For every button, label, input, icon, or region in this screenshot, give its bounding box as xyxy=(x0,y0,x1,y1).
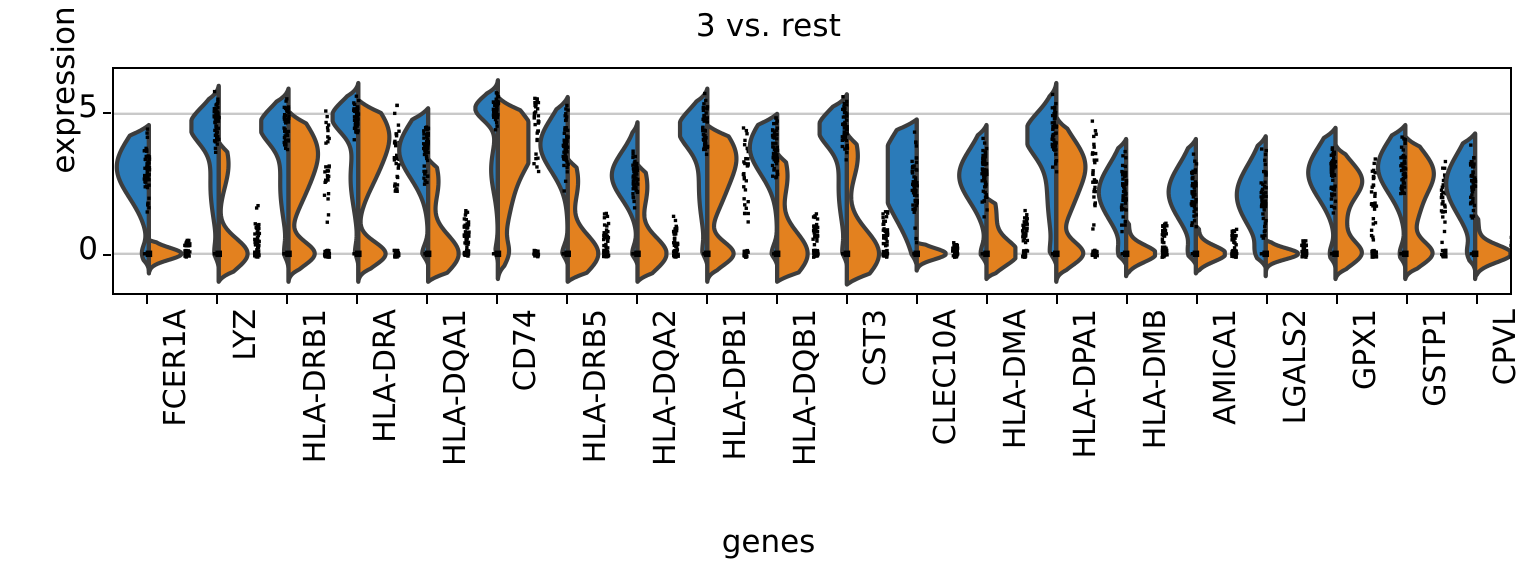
violin-half-rest xyxy=(1405,136,1434,279)
scatter-points-rest xyxy=(951,241,959,259)
scatter-point xyxy=(324,165,327,168)
scatter-point xyxy=(914,168,917,171)
scatter-point xyxy=(1091,151,1094,154)
scatter-point xyxy=(673,240,676,243)
scatter-point xyxy=(843,102,846,105)
scatter-point xyxy=(1023,220,1026,223)
scatter-point xyxy=(1231,253,1234,256)
scatter-point xyxy=(1161,237,1164,240)
scatter-point xyxy=(911,170,914,173)
scatter-point xyxy=(215,130,218,133)
violin-half-rest xyxy=(1056,117,1085,282)
scatter-point xyxy=(844,158,847,161)
scatter-point xyxy=(1260,147,1263,150)
scatter-point xyxy=(886,231,889,234)
x-tick-label-HLA-DRB1: HLA-DRB1 xyxy=(298,309,333,463)
scatter-point xyxy=(566,163,569,166)
scatter-point xyxy=(397,166,400,169)
scatter-point xyxy=(1473,177,1476,180)
scatter-point xyxy=(1441,191,1444,194)
scatter-point xyxy=(463,241,466,244)
scatter-point xyxy=(1024,251,1027,254)
scatter-point xyxy=(602,251,605,254)
scatter-point xyxy=(674,243,677,246)
scatter-point xyxy=(1444,160,1447,163)
scatter-point xyxy=(147,184,150,187)
scatter-point xyxy=(1373,201,1376,204)
scatter-point xyxy=(632,200,635,203)
scatter-point xyxy=(773,167,776,170)
scatter-point xyxy=(1370,190,1373,193)
violin-CLEC10A[interactable] xyxy=(888,119,960,270)
scatter-point xyxy=(674,249,677,252)
scatter-point xyxy=(605,246,608,249)
scatter-point xyxy=(393,156,396,159)
scatter-point xyxy=(254,222,257,225)
violin-half-rest xyxy=(987,198,1016,279)
scatter-point xyxy=(771,175,774,178)
scatter-point xyxy=(913,130,916,133)
scatter-point xyxy=(565,159,568,162)
scatter-point xyxy=(565,104,568,107)
scatter-point xyxy=(1092,223,1095,226)
x-tick-label-CPVL: CPVL xyxy=(1488,309,1523,385)
scatter-point xyxy=(564,155,567,158)
scatter-point xyxy=(1192,214,1195,217)
scatter-point xyxy=(1091,119,1094,122)
scatter-point xyxy=(631,192,634,195)
scatter-point xyxy=(395,252,398,255)
scatter-point xyxy=(562,164,565,167)
median-marker xyxy=(774,251,781,257)
scatter-point xyxy=(1123,150,1126,153)
x-tick-label-FCER1A: FCER1A xyxy=(158,309,193,427)
median-marker xyxy=(215,251,222,257)
scatter-point xyxy=(915,204,918,207)
scatter-point xyxy=(1402,148,1405,151)
scatter-point xyxy=(813,225,816,228)
scatter-point xyxy=(775,133,778,136)
x-tick-label-HLA-DPA1: HLA-DPA1 xyxy=(1068,309,1103,459)
x-tick-mark xyxy=(1336,295,1338,304)
scatter-point xyxy=(635,162,638,165)
x-tick-label-HLA-DMB: HLA-DMB xyxy=(1138,309,1173,449)
scatter-point xyxy=(422,129,425,132)
scatter-point xyxy=(537,129,540,132)
violin-GPX1[interactable] xyxy=(1308,128,1378,279)
violin-HLA-DMB[interactable] xyxy=(1099,139,1169,276)
x-tick-mark xyxy=(1126,295,1128,304)
scatter-point xyxy=(1333,206,1336,209)
scatter-point xyxy=(632,179,635,182)
x-tick-mark xyxy=(566,295,568,304)
scatter-point xyxy=(1260,190,1263,193)
scatter-point xyxy=(841,139,844,142)
scatter-point xyxy=(256,204,259,207)
scatter-point xyxy=(745,255,748,258)
scatter-point xyxy=(1330,171,1333,174)
scatter-point xyxy=(815,239,818,242)
scatter-point xyxy=(564,119,567,122)
scatter-point xyxy=(566,136,569,139)
violin-half-group xyxy=(540,97,567,265)
scatter-point xyxy=(984,183,987,186)
scatter-point xyxy=(1373,162,1376,165)
scatter-point xyxy=(607,222,610,225)
scatter-point xyxy=(1120,230,1123,233)
scatter-point xyxy=(984,150,987,153)
scatter-points-rest xyxy=(811,212,819,259)
scatter-point xyxy=(771,164,774,167)
scatter-point xyxy=(356,129,359,132)
scatter-point xyxy=(742,197,745,200)
scatter-point xyxy=(1192,152,1195,155)
scatter-point xyxy=(812,215,815,218)
x-tick-label-CD74: CD74 xyxy=(508,309,543,391)
scatter-point xyxy=(884,244,887,247)
scatter-point xyxy=(1051,93,1054,96)
scatter-point xyxy=(1161,229,1164,232)
scatter-point xyxy=(1330,154,1333,157)
median-marker xyxy=(564,251,571,257)
scatter-point xyxy=(885,215,888,218)
scatter-point xyxy=(355,95,358,98)
scatter-point xyxy=(326,135,329,138)
scatter-point xyxy=(143,174,146,177)
scatter-point xyxy=(467,230,470,233)
violin-plot-figure: 3 vs. rest expression genes 05FCER1ALYZH… xyxy=(0,0,1537,586)
scatter-point xyxy=(1093,161,1096,164)
scatter-point xyxy=(813,252,816,255)
scatter-point xyxy=(914,237,917,240)
scatter-point xyxy=(1124,208,1127,211)
scatter-point xyxy=(706,116,709,119)
scatter-point xyxy=(1125,179,1128,182)
violin-GSTP1[interactable] xyxy=(1378,125,1448,279)
scatter-point xyxy=(216,100,219,103)
scatter-point xyxy=(774,142,777,145)
scatter-point xyxy=(564,112,567,115)
scatter-point xyxy=(427,140,430,143)
scatter-point xyxy=(533,101,536,104)
scatter-point xyxy=(463,252,466,255)
violin-HLA-DMA[interactable] xyxy=(959,125,1029,279)
scatter-point xyxy=(742,172,745,175)
x-tick-label-HLA-DMA: HLA-DMA xyxy=(998,309,1033,449)
scatter-point xyxy=(214,147,217,150)
scatter-point xyxy=(147,197,150,200)
scatter-point xyxy=(776,146,779,149)
scatter-point xyxy=(215,126,218,129)
scatter-point xyxy=(953,244,956,247)
scatter-point xyxy=(1054,153,1057,156)
violin-half-rest xyxy=(638,164,667,282)
scatter-point xyxy=(495,92,498,95)
scatter-point xyxy=(1441,186,1444,189)
scatter-points-rest xyxy=(602,212,610,259)
scatter-point xyxy=(1022,235,1025,238)
scatter-point xyxy=(1472,185,1475,188)
scatter-point xyxy=(426,159,429,162)
scatter-point xyxy=(146,210,149,213)
scatter-point xyxy=(914,176,917,179)
scatter-point xyxy=(424,150,427,153)
scatter-point xyxy=(1053,114,1056,117)
scatter-point xyxy=(603,223,606,226)
x-tick-mark xyxy=(1476,295,1478,304)
x-tick-label-HLA-DRA: HLA-DRA xyxy=(368,309,403,443)
median-marker xyxy=(146,251,153,257)
scatter-point xyxy=(143,149,146,152)
scatter-point xyxy=(186,244,189,247)
violin-half-rest xyxy=(289,111,319,282)
x-tick-label-GPX1: GPX1 xyxy=(1348,309,1383,390)
violin-half-rest xyxy=(1266,240,1298,276)
scatter-point xyxy=(1092,195,1095,198)
violin-CPVL[interactable] xyxy=(1446,133,1510,279)
scatter-point xyxy=(1234,256,1237,259)
scatter-point xyxy=(636,191,639,194)
scatter-point xyxy=(603,216,606,219)
scatter-point xyxy=(536,107,539,110)
scatter-points-rest xyxy=(393,104,401,259)
scatter-point xyxy=(143,177,146,180)
scatter-point xyxy=(326,255,329,258)
violin-half-group xyxy=(475,80,497,262)
scatter-point xyxy=(426,143,429,146)
y-tick-label: 0 xyxy=(8,234,98,265)
scatter-point xyxy=(1164,247,1167,250)
scatter-point xyxy=(1440,209,1443,212)
scatter-point xyxy=(705,153,708,156)
scatter-points-rest xyxy=(672,215,680,259)
violin-LGALS2[interactable] xyxy=(1237,136,1309,276)
median-marker xyxy=(634,251,641,257)
scatter-point xyxy=(1334,200,1337,203)
scatter-point xyxy=(1300,250,1303,253)
scatter-point xyxy=(464,230,467,233)
scatter-point xyxy=(1051,137,1054,140)
scatter-point xyxy=(1373,208,1376,211)
scatter-point xyxy=(984,173,987,176)
scatter-point xyxy=(1372,183,1375,186)
scatter-point xyxy=(673,237,676,240)
scatter-point xyxy=(397,123,400,126)
scatter-point xyxy=(1190,224,1193,227)
scatter-point xyxy=(1233,249,1236,252)
scatter-point xyxy=(982,170,985,173)
scatter-point xyxy=(1053,117,1056,120)
scatter-point xyxy=(1261,203,1264,206)
scatter-point xyxy=(983,141,986,144)
scatter-point xyxy=(465,222,468,225)
x-tick-label-LGALS2: LGALS2 xyxy=(1278,309,1313,424)
scatter-point xyxy=(1509,244,1510,247)
scatter-point xyxy=(1330,197,1333,200)
violin-HLA-DQA1[interactable] xyxy=(399,108,471,282)
y-tick-mark xyxy=(103,112,111,114)
scatter-point xyxy=(213,139,216,142)
violin-CD74[interactable] xyxy=(475,80,540,279)
scatter-point xyxy=(606,235,609,238)
scatter-point xyxy=(564,180,567,183)
scatter-point xyxy=(427,127,430,130)
scatter-point xyxy=(1121,164,1124,167)
scatter-point xyxy=(983,177,986,180)
scatter-points-rest xyxy=(1161,222,1169,259)
scatter-point xyxy=(537,121,540,124)
scatter-point xyxy=(985,168,988,171)
scatter-point xyxy=(536,98,539,101)
violin-CST3[interactable] xyxy=(820,94,890,284)
scatter-point xyxy=(1441,255,1444,258)
scatter-point xyxy=(816,217,819,220)
scatter-point xyxy=(356,122,359,125)
scatter-point xyxy=(884,250,887,253)
scatter-point xyxy=(916,199,919,202)
violin-FCER1A[interactable] xyxy=(117,125,192,273)
scatter-point xyxy=(1121,215,1124,218)
scatter-point xyxy=(424,170,427,173)
scatter-point xyxy=(284,107,287,110)
scatter-point xyxy=(774,176,777,179)
x-tick-label-AMICA1: AMICA1 xyxy=(1208,309,1243,425)
scatter-point xyxy=(537,101,540,104)
scatter-point xyxy=(566,170,569,173)
scatter-point xyxy=(1472,156,1475,159)
scatter-point xyxy=(985,193,988,196)
violin-half-rest xyxy=(777,153,808,282)
scatter-point xyxy=(1332,211,1335,214)
scatter-point xyxy=(327,192,330,195)
scatter-point xyxy=(1329,162,1332,165)
scatter-point xyxy=(673,253,676,256)
scatter-point xyxy=(743,212,746,215)
scatter-point xyxy=(1052,133,1055,136)
scatter-point xyxy=(1470,160,1473,163)
violin-HLA-DQA2[interactable] xyxy=(612,122,680,282)
scatter-point xyxy=(746,200,749,203)
scatter-point xyxy=(606,215,609,218)
scatter-point xyxy=(1230,234,1233,237)
scatter-point xyxy=(146,127,149,130)
median-marker xyxy=(913,251,920,257)
violin-half-group xyxy=(1027,83,1056,265)
violin-HLA-DQB1[interactable] xyxy=(750,114,820,282)
x-tick-mark xyxy=(706,295,708,304)
scatter-point xyxy=(327,213,330,216)
scatter-point xyxy=(632,196,635,199)
median-marker xyxy=(355,251,362,257)
scatter-point xyxy=(1022,239,1025,242)
x-tick-mark xyxy=(496,295,498,304)
scatter-point xyxy=(632,183,635,186)
scatter-point xyxy=(1443,220,1446,223)
scatter-point xyxy=(1094,152,1097,155)
scatter-point xyxy=(605,228,608,231)
scatter-point xyxy=(1264,173,1267,176)
scatter-point xyxy=(704,129,707,132)
scatter-point xyxy=(533,123,536,126)
scatter-point xyxy=(1095,251,1098,254)
scatter-point xyxy=(1370,203,1373,206)
scatter-point xyxy=(1302,242,1305,245)
scatter-point xyxy=(145,131,148,134)
scatter-point xyxy=(562,189,565,192)
scatter-point xyxy=(355,118,358,121)
scatter-point xyxy=(1193,207,1196,210)
scatter-points-rest xyxy=(881,210,889,259)
violin-LYZ[interactable] xyxy=(191,86,261,282)
x-tick-mark xyxy=(846,295,848,304)
scatter-point xyxy=(771,134,774,137)
x-tick-label-CLEC10A: CLEC10A xyxy=(928,309,963,445)
scatter-point xyxy=(1441,215,1444,218)
scatter-point xyxy=(1092,143,1095,146)
scatter-point xyxy=(1471,197,1474,200)
x-tick-mark xyxy=(1406,295,1408,304)
scatter-point xyxy=(1373,205,1376,208)
scatter-point xyxy=(465,226,468,229)
scatter-point xyxy=(915,161,918,164)
scatter-point xyxy=(426,174,429,177)
scatter-point xyxy=(1372,251,1375,254)
scatter-point xyxy=(532,162,535,165)
scatter-point xyxy=(743,139,746,142)
scatter-point xyxy=(886,228,889,231)
violin-half-rest xyxy=(1196,226,1225,274)
scatter-point xyxy=(674,232,677,235)
scatter-point xyxy=(533,254,536,257)
scatter-point xyxy=(677,255,680,258)
x-tick-mark xyxy=(916,295,918,304)
scatter-point xyxy=(631,149,634,152)
scatter-point xyxy=(1372,169,1375,172)
scatter-point xyxy=(1305,252,1308,255)
scatter-point xyxy=(1400,135,1403,138)
scatter-point xyxy=(1051,165,1054,168)
scatter-point xyxy=(145,162,148,165)
violin-half-rest xyxy=(1336,145,1363,279)
scatter-point xyxy=(746,220,749,223)
scatter-point xyxy=(703,92,706,95)
scatter-point xyxy=(881,216,884,219)
scatter-point xyxy=(747,212,750,215)
scatter-point xyxy=(1053,148,1056,151)
scatter-point xyxy=(1399,187,1402,190)
scatter-point xyxy=(214,151,217,154)
scatter-point xyxy=(632,187,635,190)
scatter-point xyxy=(982,190,985,193)
scatter-point xyxy=(1263,181,1266,184)
scatter-point xyxy=(1124,156,1127,159)
x-tick-mark xyxy=(356,295,358,304)
scatter-point xyxy=(1373,195,1376,198)
scatter-point xyxy=(465,246,468,249)
scatter-point xyxy=(324,141,327,144)
scatter-point xyxy=(353,103,356,106)
scatter-point xyxy=(845,139,848,142)
scatter-point xyxy=(1333,163,1336,166)
scatter-point xyxy=(1332,157,1335,160)
scatter-point xyxy=(285,97,288,100)
scatter-point xyxy=(813,231,816,234)
scatter-point xyxy=(565,143,568,146)
scatter-point xyxy=(702,102,705,105)
median-marker xyxy=(1402,251,1409,257)
scatter-point xyxy=(955,250,958,253)
x-tick-mark xyxy=(216,295,218,304)
